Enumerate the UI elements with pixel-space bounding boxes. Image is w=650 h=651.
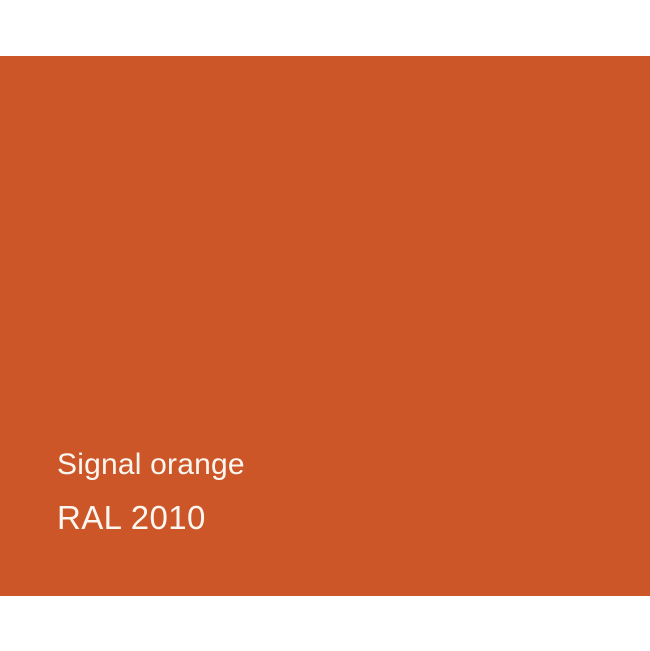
color-name-label: Signal orange xyxy=(57,450,577,480)
color-swatch-card: Signal orange RAL 2010 xyxy=(0,0,650,651)
color-code-label: RAL 2010 xyxy=(57,501,577,534)
color-swatch-block: Signal orange RAL 2010 xyxy=(0,56,650,596)
swatch-label-block: Signal orange RAL 2010 xyxy=(57,450,577,534)
